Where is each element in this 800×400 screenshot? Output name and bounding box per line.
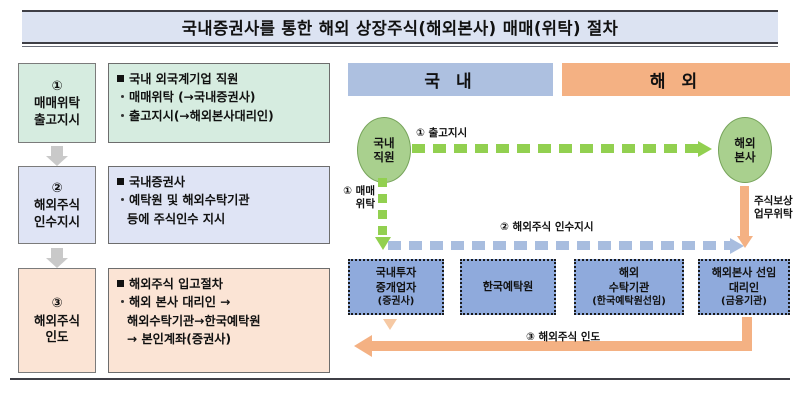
step-3-number: ③: [51, 295, 62, 312]
arrow-acquire-label: ② 해외주식 인수지시: [500, 221, 593, 234]
region-band-overseas: 해 외: [562, 63, 790, 96]
arrow-mandate-label-line1: 주식보상: [754, 195, 793, 207]
step-2-line2: 인수지시: [34, 214, 80, 231]
actor-domestic-employee: 국내 직원: [357, 117, 411, 183]
description-3-heading: 해외주식 입고절차: [117, 275, 322, 293]
region-band-domestic-label: 국 내: [424, 67, 476, 92]
arrow-shipping-label: ① 출고지시: [416, 127, 467, 140]
step-3-line1: 해외주식: [34, 313, 80, 330]
step-3-line2: 인도: [45, 329, 68, 346]
step-2-number: ②: [51, 180, 62, 197]
arrow-mandate-label-line2: 업무위탁: [754, 208, 793, 220]
arrow-delivery-label: ③ 해외주식 인도: [526, 331, 600, 344]
entity-4-line2: 대리인: [729, 281, 759, 295]
step-box-2: ② 해외주식 인수지시: [18, 166, 96, 244]
arrow-entrust-label: ① 매매 위탁: [342, 185, 375, 212]
description-1-item-1-text: 매매위탁 (→국내증권사): [129, 90, 256, 104]
arrow-mandate-shaft: [740, 186, 749, 237]
bullet-dot-icon: [121, 114, 124, 117]
arrow-mandate-label: 주식보상 업무위탁: [754, 195, 793, 222]
description-2-item-1-cont: 등에 주식인수 지시: [117, 210, 322, 228]
entity-4-sub: (금융기관): [721, 295, 767, 308]
region-band-domestic: 국 내: [348, 63, 553, 96]
description-3-item-1-cont2: → 본인계좌(증권사): [117, 330, 322, 348]
arrow-entrust-label-line1: ① 매매: [343, 185, 375, 197]
diagram-root: 국내증권사를 통한 해외 상장주식(해외본사) 매매(위탁) 절차 ① 매매위탁…: [0, 0, 800, 400]
arrow-mandate-head-icon: [737, 236, 753, 248]
step-1-line1: 매매위탁: [34, 95, 80, 112]
arrow-shipping-instruction: [412, 144, 712, 153]
entity-3-line2: 수탁기관: [609, 281, 649, 295]
description-3-item-1-cont: 해외수탁기관→한국예탁원: [117, 312, 322, 330]
entity-3-line1: 해외: [619, 266, 639, 280]
description-2-item-1: 예탁원 및 해외수탁기관: [117, 191, 322, 209]
description-2-heading-text: 국내증권사: [129, 175, 185, 189]
arrow-delivery-vertical-shaft: [742, 317, 752, 351]
page-title: 국내증권사를 통한 해외 상장주식(해외본사) 매매(위탁) 절차: [182, 15, 618, 39]
description-2-heading: 국내증권사: [117, 173, 322, 191]
page-title-bar: 국내증권사를 통한 해외 상장주식(해외본사) 매매(위탁) 절차: [22, 10, 778, 44]
description-3-item-1: 해외 본사 대리인 →: [117, 293, 322, 311]
entity-ksd: 한국예탁원: [460, 259, 556, 315]
bullet-dot-icon: [121, 300, 124, 303]
step-box-1: ① 매매위탁 출고지시: [18, 63, 96, 143]
arrow-entrust-label-line2: 위탁: [356, 198, 375, 210]
entity-overseas-custodian: 해외 수탁기관 (한국예탁원선임): [574, 259, 684, 315]
step-box-3: ③ 해외주식 인도: [18, 268, 96, 373]
entity-2-line1: 한국예탁원: [483, 280, 534, 294]
description-box-1: 국내 외국계기업 직원 매매위탁 (→국내증권사) 출고지시(→해외본사대리인): [108, 63, 330, 143]
entity-4-line1: 해외본사 선임: [712, 266, 777, 280]
actor-domestic-employee-line2: 직원: [373, 150, 394, 164]
arrow-trade-entrustment: [378, 178, 387, 250]
description-1-item-2-text: 출고지시(→해외본사대리인): [129, 109, 274, 123]
footer-divider: [10, 378, 790, 380]
bullet-dot-icon: [121, 95, 124, 98]
actor-domestic-employee-line1: 국내: [373, 136, 394, 150]
entity-3-sub: (한국예탁원선임): [592, 295, 666, 308]
bullet-dot-icon: [121, 198, 124, 201]
entity-domestic-broker: 국내투자 중개업자 (증권사): [348, 259, 444, 315]
description-box-3: 해외주식 입고절차 해외 본사 대리인 → 해외수탁기관→한국예탁원 → 본인계…: [108, 268, 330, 373]
step-2-line1: 해외주식: [34, 197, 80, 214]
description-3-item-1-text: 해외 본사 대리인 →: [129, 295, 230, 309]
step-connector-arrow-1: [51, 146, 63, 157]
step-1-number: ①: [51, 78, 62, 95]
description-1-heading-text: 국내 외국계기업 직원: [129, 72, 238, 86]
bullet-square-icon: [117, 280, 124, 287]
flow-panel: 국 내 해 외 국내 직원 해외 본사 ① 출고지시 ① 매매 위탁: [340, 55, 792, 385]
arrow-acquisition-instruction: [388, 241, 744, 250]
description-1-item-1: 매매위탁 (→국내증권사): [117, 88, 322, 106]
actor-overseas-headquarters-line2: 본사: [734, 150, 755, 164]
actor-overseas-headquarters: 해외 본사: [718, 117, 772, 183]
arrow-acquire-shaft: [388, 241, 731, 250]
description-1-item-2: 출고지시(→해외본사대리인): [117, 107, 322, 125]
bullet-square-icon: [117, 75, 124, 82]
region-band-overseas-label: 해 외: [650, 67, 702, 92]
arrow-entrust-shaft: [378, 178, 387, 238]
arrow-shipping-shaft: [412, 144, 699, 153]
entity-overseas-agent: 해외본사 선임 대리인 (금융기관): [698, 259, 790, 315]
entity-1-line2: 중개업자: [376, 281, 416, 295]
description-2-item-1-text: 예탁원 및 해외수탁기관: [129, 193, 250, 207]
actor-overseas-headquarters-line1: 해외: [734, 136, 755, 150]
step-connector-arrow-2: [51, 248, 63, 259]
arrow-compensation-mandate: [740, 186, 749, 248]
entity-1-line1: 국내투자: [376, 266, 416, 280]
entity-1-sub: (증권사): [378, 295, 415, 308]
step-1-line2: 출고지시: [34, 112, 80, 129]
description-1-heading: 국내 외국계기업 직원: [117, 70, 322, 88]
description-box-2: 국내증권사 예탁원 및 해외수탁기관 등에 주식인수 지시: [108, 166, 330, 244]
arrow-shipping-head-icon: [698, 141, 712, 157]
bullet-square-icon: [117, 178, 124, 185]
arrow-delivery-head-icon: [354, 335, 372, 357]
description-3-heading-text: 해외주식 입고절차: [129, 277, 223, 291]
